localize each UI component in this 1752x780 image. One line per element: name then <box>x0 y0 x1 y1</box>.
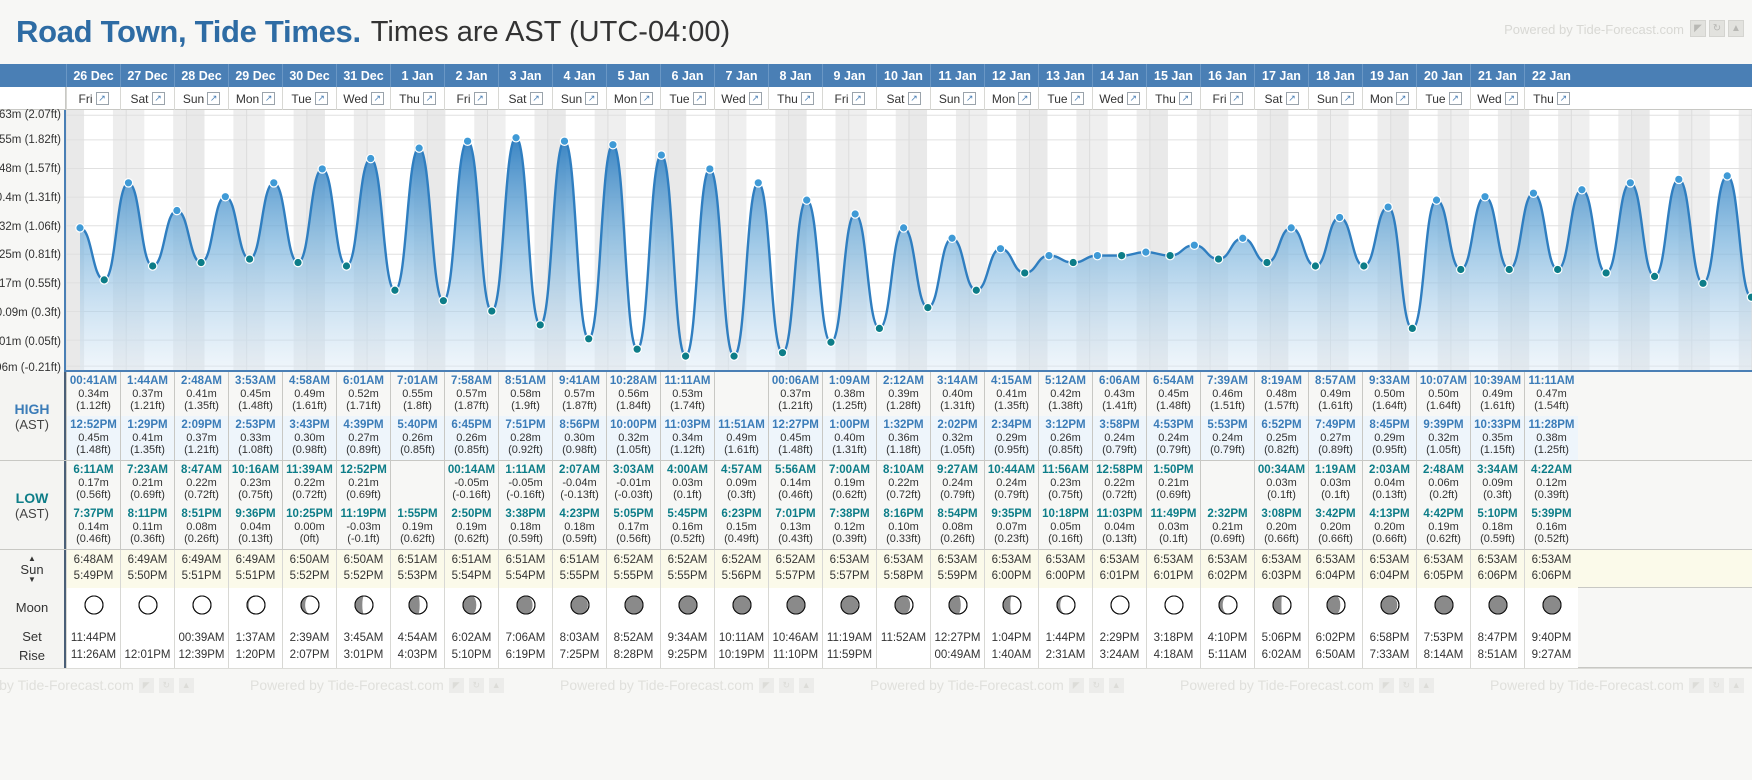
date-header-cell[interactable]: 6 Jan <box>660 64 714 87</box>
high-tide-feet: (1.84ft) <box>616 400 651 412</box>
high-tide-feet: (1.57ft) <box>1264 400 1299 412</box>
date-header-cell[interactable]: 5 Jan <box>606 64 660 87</box>
moon-phase-cell <box>390 588 444 626</box>
high-tide-feet: (1.12ft) <box>670 444 705 456</box>
high-tide-feet: (0.79ft) <box>1102 444 1137 456</box>
low-tide-meters: 0.03m <box>1266 477 1297 489</box>
high-tide-meters: 0.43m <box>1104 388 1135 400</box>
moon-rise-time: 12:01PM <box>124 647 170 664</box>
low-tide-event: 3:34AM0.09m(0.3ft) <box>1471 461 1524 505</box>
expand-day-icon[interactable]: ↗ <box>1286 92 1299 105</box>
refresh-icon[interactable]: ↻ <box>1709 20 1725 37</box>
high-tide-meters: 0.50m <box>1374 388 1405 400</box>
low-tide-time: 00:34AM <box>1258 464 1305 477</box>
high-tide-meters: 0.47m <box>1536 388 1567 400</box>
low-tide-event: 10:25PM0.00m(0ft) <box>283 505 336 549</box>
expand-day-icon[interactable]: ↗ <box>1557 92 1570 105</box>
sun-times-cell: 6:53AM6:06PM <box>1524 550 1578 588</box>
expand-day-icon[interactable]: ↗ <box>262 92 275 105</box>
moon-phase-icon <box>1271 594 1293 621</box>
moon-setrise-cell: 10:46AM11:10PM <box>768 626 822 668</box>
sunset-time: 5:52PM <box>344 569 384 585</box>
moon-phase-cell <box>876 588 930 626</box>
high-tide-event: 1:44AM0.37m(1.21ft) <box>121 372 174 416</box>
moon-rise-time: 4:18AM <box>1154 647 1194 664</box>
moon-phase-icon <box>677 594 699 621</box>
weekday-header-cell[interactable]: Mon↗ <box>984 87 1038 110</box>
high-tide-event: 3:12PM0.26m(0.85ft) <box>1039 416 1092 460</box>
weekday-label: Tue <box>1047 92 1067 106</box>
weekday-label: Sun <box>939 92 960 106</box>
low-tide-event: 10:44AM0.24m(0.79ft) <box>985 461 1038 505</box>
expand-day-icon[interactable]: ↗ <box>693 92 706 105</box>
weekday-header-cell[interactable]: Fri↗ <box>822 87 876 110</box>
low-tide-time: 8:10AM <box>883 464 924 477</box>
expand-day-icon[interactable]: ↗ <box>908 92 921 105</box>
date-header-cell[interactable]: 14 Jan <box>1092 64 1146 87</box>
low-tide-time: 10:16AM <box>232 464 279 477</box>
expand-day-icon[interactable]: ↗ <box>423 92 436 105</box>
y-axis-tick: 0.17m (0.55ft) <box>0 278 61 290</box>
low-tide-time: 1:50PM <box>1153 464 1193 477</box>
low-tide-time: 5:56AM <box>775 464 816 477</box>
low-tide-meters: 0.12m <box>834 521 865 533</box>
low-tide-time: 8:54PM <box>937 508 977 521</box>
high-tide-meters: 0.36m <box>888 432 919 444</box>
low-tide-feet: (0.46ft) <box>76 533 111 545</box>
weekday-label: Wed <box>343 92 367 106</box>
page-header: Road Town, Tide Times. Times are AST (UT… <box>0 0 1752 64</box>
weekday-header-cell[interactable]: Thu↗ <box>768 87 822 110</box>
high-tide-time: 10:39AM <box>1474 375 1521 388</box>
sun-times-cell: 6:53AM5:59PM <box>930 550 984 588</box>
high-tide-cell: 11:11AM0.53m(1.74ft)11:03PM0.34m(1.12ft) <box>660 372 714 460</box>
low-tide-meters: 0.22m <box>294 477 325 489</box>
moon-set-time: 1:44PM <box>1046 630 1086 647</box>
low-tide-meters: 0.16m <box>1536 521 1567 533</box>
high-tide-event: 4:58AM0.49m(1.61ft) <box>283 372 336 416</box>
low-tide-time: 7:38PM <box>829 508 869 521</box>
moon-set-time: 3:18PM <box>1154 630 1194 647</box>
sunset-time: 6:01PM <box>1154 569 1194 585</box>
expand-day-icon[interactable]: ↗ <box>852 92 865 105</box>
weekday-header-cell[interactable]: Mon↗ <box>1362 87 1416 110</box>
expand-day-icon[interactable]: ↗ <box>530 92 543 105</box>
low-tide-meters: 0.04m <box>240 521 271 533</box>
high-tide-cell: 7:58AM0.57m(1.87ft)6:45PM0.26m(0.85ft) <box>444 372 498 460</box>
expand-day-icon[interactable]: ↗ <box>749 92 762 105</box>
low-tide-meters: 0.04m <box>1104 521 1135 533</box>
low-tide-event: 2:03AM0.04m(0.13ft) <box>1363 461 1416 505</box>
low-tide-time: 8:11PM <box>128 508 168 521</box>
expand-day-icon[interactable]: ↗ <box>474 92 487 105</box>
sunrise-time: 6:48AM <box>74 553 114 569</box>
low-tide-event: 12:58PM0.22m(0.72ft) <box>1093 461 1146 505</box>
footer-badge-icon: ↻ <box>469 678 484 693</box>
weekday-header-cell[interactable]: Fri↗ <box>444 87 498 110</box>
weekday-header-cell[interactable]: Sun↗ <box>1308 87 1362 110</box>
weekday-label: Wed <box>721 92 745 106</box>
high-tide-cell: 9:41AM0.57m(1.87ft)8:56PM0.30m(0.98ft) <box>552 372 606 460</box>
date-header-cell[interactable]: 7 Jan <box>714 64 768 87</box>
high-tide-event: 8:56PM0.30m(0.98ft) <box>553 416 606 460</box>
low-tide-event: 3:38PM0.18m(0.59ft) <box>499 505 552 549</box>
low-tide-time: 4:23PM <box>559 508 599 521</box>
low-tide-meters: 0.04m <box>1374 477 1405 489</box>
date-header-cell[interactable]: 3 Jan <box>498 64 552 87</box>
sunset-time: 5:55PM <box>614 569 654 585</box>
expand-day-icon[interactable]: ↗ <box>1179 92 1192 105</box>
date-header-cell[interactable]: 31 Dec <box>336 64 390 87</box>
low-tide-meters: 0.23m <box>240 477 271 489</box>
weekday-header-cell[interactable]: Sun↗ <box>174 87 228 110</box>
high-tide-meters: 0.41m <box>186 388 217 400</box>
low-tide-cell: 11:39AM0.22m(0.72ft)10:25PM0.00m(0ft) <box>282 461 336 549</box>
low-tide-event: 11:49PM0.03m(0.1ft) <box>1147 505 1200 549</box>
low-tide-meters: -0.04m <box>562 477 596 489</box>
weekday-label: Thu <box>1533 92 1554 106</box>
moon-set-time: 8:47PM <box>1478 630 1518 647</box>
low-tide-event: 11:03PM0.04m(0.13ft) <box>1093 505 1146 549</box>
weekday-label: Mon <box>614 92 637 106</box>
high-tide-event: 6:06AM0.43m(1.41ft) <box>1093 372 1146 416</box>
moon-phase-icon <box>1217 594 1239 621</box>
expand-day-icon[interactable]: ↗ <box>1341 92 1354 105</box>
sunrise-time: 6:52AM <box>722 553 762 569</box>
moon-phase-icon <box>785 594 807 621</box>
date-header-cell[interactable]: 19 Jan <box>1362 64 1416 87</box>
low-tide-event: 1:50PM0.21m(0.69ft) <box>1147 461 1200 505</box>
low-tide-meters: -0.05m <box>508 477 542 489</box>
low-tide-cell: -1:55PM0.19m(0.62ft) <box>390 461 444 549</box>
weekday-header-cell[interactable]: Wed↗ <box>1470 87 1524 110</box>
low-tide-event: 4:57AM0.09m(0.3ft) <box>715 461 768 505</box>
expand-day-icon[interactable]: ↗ <box>1071 92 1084 105</box>
footer-badge-icon: ◤ <box>1069 678 1084 693</box>
low-tide-meters: 0.07m <box>996 521 1027 533</box>
low-tide-feet: (0.72ft) <box>886 489 921 501</box>
moon-rise-time: 00:49AM <box>934 647 980 664</box>
moon-setrise-cell: 4:10PM5:11AM <box>1200 626 1254 668</box>
date-header-cell[interactable]: 27 Dec <box>120 64 174 87</box>
footer-badge-icon: ◤ <box>1379 678 1394 693</box>
expand-day-icon[interactable]: ↗ <box>585 92 598 105</box>
sun-times-cell: 6:52AM5:57PM <box>768 550 822 588</box>
low-tide-meters: -0.01m <box>616 477 650 489</box>
high-tide-time: 8:57AM <box>1315 375 1356 388</box>
low-tide-feet: (0.72ft) <box>184 489 219 501</box>
moon-rise-time: 6:50AM <box>1316 647 1356 664</box>
high-tide-event: 3:53AM0.45m(1.48ft) <box>229 372 282 416</box>
sun-label: ▲ Sun ▼ <box>0 550 66 588</box>
high-tide-meters: 0.40m <box>942 388 973 400</box>
low-tide-feet: (0.13ft) <box>1102 533 1137 545</box>
high-tide-feet: (1.12ft) <box>76 400 111 412</box>
low-tide-event: 5:39PM0.16m(0.52ft) <box>1525 505 1578 549</box>
low-tide-meters: 0.16m <box>672 521 703 533</box>
high-tide-meters: 0.45m <box>78 432 109 444</box>
low-tide-feet: (0.46ft) <box>778 489 813 501</box>
moon-setrise-cell: 9:34AM9:25PM <box>660 626 714 668</box>
high-tide-feet: (1.61ft) <box>724 444 759 456</box>
moon-setrise-cell: 4:54AM4:03PM <box>390 626 444 668</box>
y-axis-tick: 0.48m (1.57ft) <box>0 163 61 175</box>
y-axis-tick: 0.09m (0.3ft) <box>0 307 61 319</box>
sun-times-cell: 6:49AM5:50PM <box>120 550 174 588</box>
footer-watermark-text: Powered by Tide-Forecast.com <box>1180 677 1374 693</box>
low-tide-time: 2:48AM <box>1423 464 1464 477</box>
low-tide-meters: 0.10m <box>888 521 919 533</box>
expand-day-icon[interactable]: ↗ <box>371 92 384 105</box>
moon-rise-time: 8:28PM <box>614 647 654 664</box>
weekday-header-cell[interactable]: Sun↗ <box>930 87 984 110</box>
date-header-cell[interactable]: 2 Jan <box>444 64 498 87</box>
high-tide-event: 2:48AM0.41m(1.35ft) <box>175 372 228 416</box>
low-tide-time: 11:49PM <box>1150 508 1196 521</box>
high-tide-feet: (0.85ft) <box>400 444 435 456</box>
expand-day-icon[interactable]: ↗ <box>1505 92 1518 105</box>
high-tide-meters: 0.41m <box>996 388 1027 400</box>
moon-phase-icon <box>1109 594 1131 621</box>
expand-icon[interactable]: ▲ <box>1728 20 1744 37</box>
moon-rise-time: 4:03PM <box>398 647 438 664</box>
date-header-cell[interactable]: 18 Jan <box>1308 64 1362 87</box>
high-tide-time: 8:19AM <box>1261 375 1302 388</box>
date-header-cell[interactable]: 20 Jan <box>1416 64 1470 87</box>
moon-setrise-cell: 8:47PM8:51AM <box>1470 626 1524 668</box>
high-tide-feet: (0.89ft) <box>346 444 381 456</box>
high-tide-meters: 0.37m <box>780 388 811 400</box>
high-tide-feet: (1.74ft) <box>670 400 705 412</box>
high-tide-event: 10:39AM0.49m(1.61ft) <box>1471 372 1524 416</box>
weekday-header-cell[interactable]: Tue↗ <box>1416 87 1470 110</box>
low-tide-event: 7:00AM0.19m(0.62ft) <box>823 461 876 505</box>
sunrise-time: 6:50AM <box>290 553 330 569</box>
weekday-header-cell[interactable]: Thu↗ <box>1146 87 1200 110</box>
high-tide-event: 4:39PM0.27m(0.89ft) <box>337 416 390 460</box>
weekday-header-cell[interactable]: Tue↗ <box>282 87 336 110</box>
high-tide-feet: (1.25ft) <box>832 400 867 412</box>
date-header-cell[interactable]: 16 Jan <box>1200 64 1254 87</box>
weekday-header-cell[interactable]: Fri↗ <box>1200 87 1254 110</box>
low-tide-cell: 1:19AM0.03m(0.1ft)3:42PM0.20m(0.66ft) <box>1308 461 1362 549</box>
sun-times-cell: 6:53AM6:02PM <box>1200 550 1254 588</box>
moon-setrise-cell: 6:02PM6:50AM <box>1308 626 1362 668</box>
weekday-header-cell[interactable]: Sat↗ <box>120 87 174 110</box>
weekday-label: Sun <box>183 92 204 106</box>
high-tide-cell: 6:01AM0.52m(1.71ft)4:39PM0.27m(0.89ft) <box>336 372 390 460</box>
footer-watermark: Powered by Tide-Forecast.com◤↻▲ <box>560 677 814 693</box>
moon-phase-icon <box>947 594 969 621</box>
date-header-cell[interactable]: 10 Jan <box>876 64 930 87</box>
low-tide-feet: (0.66ft) <box>1318 533 1353 545</box>
date-header-cell[interactable]: 28 Dec <box>174 64 228 87</box>
weekday-header-cell[interactable]: Thu↗ <box>1524 87 1578 110</box>
expand-day-icon[interactable]: ↗ <box>1127 92 1140 105</box>
expand-day-icon[interactable]: ↗ <box>207 92 220 105</box>
high-tide-time: 4:58AM <box>289 375 330 388</box>
expand-day-icon[interactable]: ↗ <box>1230 92 1243 105</box>
moon-label-text: Moon <box>16 600 49 615</box>
date-header-cell[interactable]: 1 Jan <box>390 64 444 87</box>
date-header-cell[interactable]: 4 Jan <box>552 64 606 87</box>
low-tide-time: 8:16PM <box>883 508 923 521</box>
tide-forecast-page: Road Town, Tide Times. Times are AST (UT… <box>0 0 1752 780</box>
low-tide-feet: (0.79ft) <box>940 489 975 501</box>
high-tide-cell: 00:41AM0.34m(1.12ft)12:52PM0.45m(1.48ft) <box>66 372 120 460</box>
sun-times-cell: 6:53AM6:05PM <box>1416 550 1470 588</box>
weekday-header-cell[interactable]: Mon↗ <box>228 87 282 110</box>
expand-day-icon[interactable]: ↗ <box>96 92 109 105</box>
high-tide-meters: 0.49m <box>294 388 325 400</box>
high-tide-time: 3:14AM <box>937 375 978 388</box>
high-tide-meters: 0.29m <box>1374 432 1405 444</box>
weekday-header-cell[interactable]: Wed↗ <box>336 87 390 110</box>
low-tide-meters: 0.08m <box>186 521 217 533</box>
high-tide-time: 10:00PM <box>610 419 657 432</box>
weekday-header-cell[interactable]: Wed↗ <box>1092 87 1146 110</box>
low-tide-meters: 0.22m <box>1104 477 1135 489</box>
date-header-cell[interactable]: 12 Jan <box>984 64 1038 87</box>
high-tide-time: 5:12AM <box>1045 375 1086 388</box>
moon-phase-cell <box>1416 588 1470 626</box>
date-header-cell[interactable]: 21 Jan <box>1470 64 1524 87</box>
sunrise-time: 6:50AM <box>344 553 384 569</box>
sunrise-time: 6:51AM <box>452 553 492 569</box>
weekday-header-cell[interactable]: Fri↗ <box>66 87 120 110</box>
date-header-cell[interactable]: 22 Jan <box>1524 64 1578 87</box>
moon-phase-icon <box>353 594 375 621</box>
date-header-cell[interactable]: 26 Dec <box>66 64 120 87</box>
sunrise-time: 6:51AM <box>506 553 546 569</box>
high-tide-event: 00:41AM0.34m(1.12ft) <box>67 372 120 416</box>
weekday-header-cell[interactable]: Mon↗ <box>606 87 660 110</box>
low-tide-time: 7:37PM <box>73 508 113 521</box>
high-tide-feet: (1.54ft) <box>1534 400 1569 412</box>
high-tide-cell: 6:54AM0.45m(1.48ft)4:53PM0.24m(0.79ft) <box>1146 372 1200 460</box>
high-tide-cell: 2:12AM0.39m(1.28ft)1:32PM0.36m(1.18ft) <box>876 372 930 460</box>
moon-phase-icon <box>1379 594 1401 621</box>
date-header-cell[interactable]: 30 Dec <box>282 64 336 87</box>
high-tide-meters: 0.30m <box>564 432 595 444</box>
expand-day-icon[interactable]: ↗ <box>1018 92 1031 105</box>
high-tide-meters: 0.49m <box>1482 388 1513 400</box>
moon-set-time: 6:02PM <box>1316 630 1356 647</box>
high-tide-time: 9:33AM <box>1369 375 1410 388</box>
expand-day-icon[interactable]: ↗ <box>801 92 814 105</box>
moon-setrise-cell: 1:04PM1:40AM <box>984 626 1038 668</box>
high-tide-event: 12:27PM0.45m(1.48ft) <box>769 416 822 460</box>
sunset-time: 5:55PM <box>560 569 600 585</box>
weekday-header-cell[interactable]: Sat↗ <box>876 87 930 110</box>
sunset-time: 5:51PM <box>236 569 276 585</box>
date-header-cell[interactable]: 8 Jan <box>768 64 822 87</box>
footer-badge-icon: ▲ <box>1419 678 1434 693</box>
low-tide-meters: 0.09m <box>1482 477 1513 489</box>
expand-day-icon[interactable]: ↗ <box>963 92 976 105</box>
low-tide-cell: 12:58PM0.22m(0.72ft)11:03PM0.04m(0.13ft) <box>1092 461 1146 549</box>
low-tide-time: 2:03AM <box>1369 464 1410 477</box>
date-header-cell[interactable]: 13 Jan <box>1038 64 1092 87</box>
high-tide-feet: (1.71ft) <box>346 400 381 412</box>
low-tide-feet: (0.39ft) <box>1534 489 1569 501</box>
high-tide-time: 00:41AM <box>70 375 117 388</box>
moon-rise-time: 8:51AM <box>1478 647 1518 664</box>
low-tide-event: 4:13PM0.20m(0.66ft) <box>1363 505 1416 549</box>
moon-phase-icon <box>245 594 267 621</box>
date-header-cell[interactable]: 15 Jan <box>1146 64 1200 87</box>
weekday-label: Thu <box>1155 92 1176 106</box>
sunset-time: 5:50PM <box>128 569 168 585</box>
weekday-header-cell[interactable]: Sat↗ <box>1254 87 1308 110</box>
low-tide-time: 5:10PM <box>1477 508 1517 521</box>
moon-setrise-cell: 1:37AM1:20PM <box>228 626 282 668</box>
high-tide-event: 7:01AM0.55m(1.8ft) <box>391 372 444 416</box>
moon-setrise-cell: 2:39AM2:07PM <box>282 626 336 668</box>
high-tide-time: 11:11AM <box>1528 375 1574 388</box>
low-tide-cell: -2:32PM0.21m(0.69ft) <box>1200 461 1254 549</box>
chart-y-axis: 0.63m (2.07ft)0.55m (1.82ft)0.48m (1.57f… <box>0 110 66 372</box>
sun-row: ▲ Sun ▼ 6:48AM5:49PM6:49AM5:50PM6:49AM5:… <box>0 550 1752 588</box>
date-header-cell[interactable]: 17 Jan <box>1254 64 1308 87</box>
expand-day-icon[interactable]: ↗ <box>1396 92 1409 105</box>
high-tide-meters: 0.24m <box>1104 432 1135 444</box>
expand-day-icon[interactable]: ↗ <box>152 92 165 105</box>
low-tide-meters: 0.21m <box>1158 477 1189 489</box>
sun-times-cell: 6:53AM6:01PM <box>1092 550 1146 588</box>
low-tide-event: 1:11AM-0.05m(-0.16ft) <box>499 461 552 505</box>
moon-set-time: 11:44PM <box>71 630 116 647</box>
weekday-header-cell[interactable]: Sat↗ <box>498 87 552 110</box>
weekday-header-cell[interactable]: Tue↗ <box>1038 87 1092 110</box>
high-tide-time: 1:32PM <box>883 419 923 432</box>
weekday-header-row: Fri↗Sat↗Sun↗Mon↗Tue↗Wed↗Thu↗Fri↗Sat↗Sun↗… <box>0 87 1752 110</box>
date-header-cell[interactable]: 29 Dec <box>228 64 282 87</box>
weekday-header-cell[interactable]: Wed↗ <box>714 87 768 110</box>
expand-day-icon[interactable]: ↗ <box>315 92 328 105</box>
sunset-time: 5:49PM <box>74 569 114 585</box>
date-header-cell[interactable]: 9 Jan <box>822 64 876 87</box>
low-tide-event: 11:56AM0.23m(0.75ft) <box>1039 461 1092 505</box>
weekday-header-cell[interactable]: Thu↗ <box>390 87 444 110</box>
share-icon[interactable]: ◤ <box>1690 20 1706 37</box>
low-tide-event: 7:01PM0.13m(0.43ft) <box>769 505 822 549</box>
high-tide-feet: (1.8ft) <box>403 400 432 412</box>
high-tide-feet: (1.25ft) <box>1534 444 1569 456</box>
low-tide-event: 5:45PM0.16m(0.52ft) <box>661 505 714 549</box>
high-tide-event: 2:53PM0.33m(1.08ft) <box>229 416 282 460</box>
weekday-header-cell[interactable]: Tue↗ <box>660 87 714 110</box>
high-tide-meters: 0.45m <box>780 432 811 444</box>
weekday-header-cell[interactable]: Sun↗ <box>552 87 606 110</box>
low-tide-feet: (0.69ft) <box>346 489 381 501</box>
low-tide-meters: 0.03m <box>672 477 703 489</box>
low-tide-meters: -0.03m <box>346 521 380 533</box>
expand-day-icon[interactable]: ↗ <box>1449 92 1462 105</box>
low-tide-feet: (0.36ft) <box>130 533 165 545</box>
high-tide-event: 6:52PM0.25m(0.82ft) <box>1255 416 1308 460</box>
moon-rise-time: 6:19PM <box>506 647 546 664</box>
date-header-cell[interactable]: 11 Jan <box>930 64 984 87</box>
low-tide-time: 10:18PM <box>1042 508 1089 521</box>
low-tide-meters: 0.06m <box>1428 477 1459 489</box>
footer-watermark-text: Powered by Tide-Forecast.com <box>1490 677 1684 693</box>
high-tide-feet: (1.05ft) <box>940 444 975 456</box>
high-tide-time: 6:01AM <box>343 375 384 388</box>
weekday-label: Fri <box>835 92 849 106</box>
sun-times-cell: 6:51AM5:54PM <box>498 550 552 588</box>
expand-day-icon[interactable]: ↗ <box>640 92 653 105</box>
